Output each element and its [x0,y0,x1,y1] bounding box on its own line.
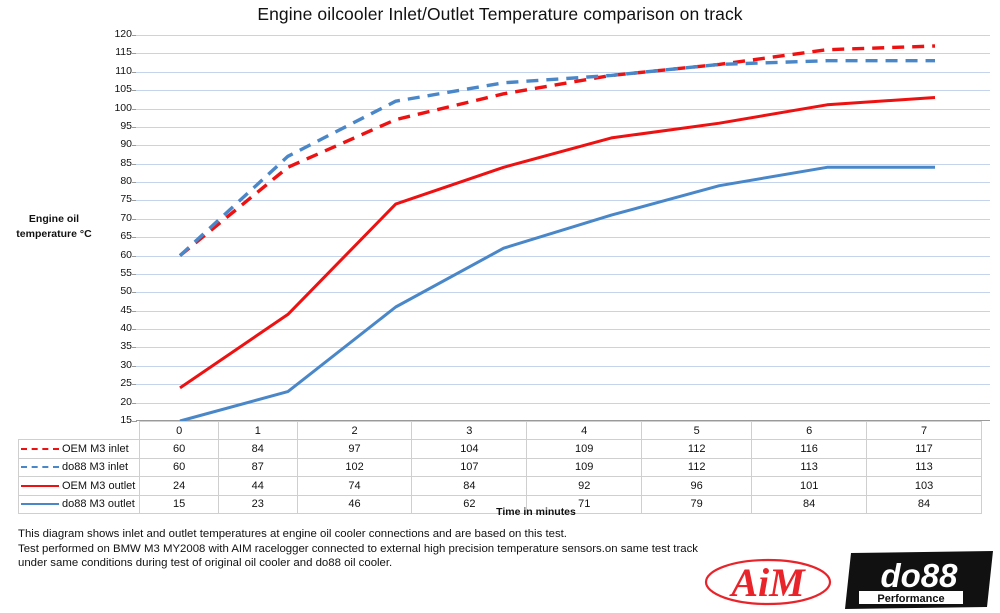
y-axis-tick-label: 70 [98,212,132,224]
table-cell: 96 [642,477,752,495]
data-table: 01234567 OEM M3 inlet6084971041091121161… [18,421,982,514]
y-axis-tick-mark [132,200,136,201]
legend-header-blank [19,422,140,440]
table-cell: 60 [140,458,219,476]
legend-label: do88 M3 outlet [62,498,135,510]
table-column-header: 3 [412,422,527,440]
y-axis-tick-mark [132,237,136,238]
y-axis-tick-mark [132,35,136,36]
y-axis-tick-mark [132,219,136,220]
table-column-header: 0 [140,422,219,440]
y-axis-title-line1: Engine oil [8,212,100,227]
y-axis-title: Engine oil temperature °C [8,212,100,242]
y-axis-tick-mark [132,127,136,128]
y-axis-tick-label: 100 [98,102,132,114]
table-cell: 84 [218,440,297,458]
legend-label: OEM M3 inlet [62,443,129,455]
table-cell: 107 [412,458,527,476]
plot-area [136,35,990,421]
y-axis-tick-label: 85 [98,157,132,169]
table-header: 01234567 [19,422,982,440]
y-axis-tick-labels: 1201151101051009590858075706560555045403… [94,0,132,613]
table-cell: 104 [412,440,527,458]
y-axis-tick-label: 120 [98,28,132,40]
table-column-header: 2 [297,422,412,440]
y-axis-tick-label: 115 [98,46,132,58]
table-cell: 113 [752,458,867,476]
y-axis-tick-mark [132,366,136,367]
y-axis-tick-mark [132,90,136,91]
y-axis-tick-label: 35 [98,340,132,352]
y-axis-tick-mark [132,145,136,146]
y-axis-tick-label: 65 [98,230,132,242]
series-line-oem-m3-outlet [180,98,935,388]
y-axis-tick-mark [132,347,136,348]
table-cell: 113 [867,458,982,476]
y-axis-tick-label: 110 [98,65,132,77]
table-cell: 101 [752,477,867,495]
table-header-row: 01234567 [19,422,982,440]
y-axis-tick-label: 40 [98,322,132,334]
table-body: OEM M3 inlet608497104109112116117do88 M3… [19,440,982,514]
y-axis-tick-mark [132,329,136,330]
table-cell: 87 [218,458,297,476]
y-axis-tick-label: 105 [98,83,132,95]
table-cell: 44 [218,477,297,495]
chart-page: Engine oilcooler Inlet/Outlet Temperatur… [0,0,1000,613]
do88-logo-subtext: Performance [877,593,944,605]
y-axis-tick-mark [132,421,136,422]
y-axis-tick-mark [132,53,136,54]
table-row: OEM M3 inlet608497104109112116117 [19,440,982,458]
caption-line-3: under same conditions during test of ori… [18,556,718,571]
table-column-header: 6 [752,422,867,440]
do88-logo-text: do88 [880,557,958,594]
y-axis-title-line2: temperature °C [8,227,100,242]
y-axis-tick-label: 20 [98,396,132,408]
legend-label: do88 M3 inlet [62,461,128,473]
y-axis-tick-label: 95 [98,120,132,132]
y-axis-tick-mark [132,72,136,73]
table-cell: 102 [297,458,412,476]
y-axis-tick-mark [132,384,136,385]
do88-logo: do88 Performance [845,551,993,609]
y-axis-tick-mark [132,274,136,275]
legend-entry[interactable]: OEM M3 outlet [19,477,140,495]
legend-swatch-icon [21,466,59,468]
table-cell: 60 [140,440,219,458]
caption-line-2: Test performed on BMW M3 MY2008 with AIM… [18,542,718,557]
x-axis-title: Time in minutes [136,506,936,518]
legend-entry[interactable]: do88 M3 outlet [19,495,140,513]
table-cell: 116 [752,440,867,458]
y-axis-tick-label: 30 [98,359,132,371]
page-title: Engine oilcooler Inlet/Outlet Temperatur… [0,4,1000,25]
y-axis-tick-label: 25 [98,377,132,389]
y-axis-tick-mark [132,311,136,312]
legend-swatch-icon [21,448,59,450]
aim-logo: AiM [703,556,833,608]
y-axis-tick-label: 90 [98,138,132,150]
table-column-header: 4 [527,422,642,440]
table-cell: 74 [297,477,412,495]
series-lines [136,35,990,421]
table-row: OEM M3 outlet244474849296101103 [19,477,982,495]
legend-label: OEM M3 outlet [62,480,135,492]
series-line-do88-m3-outlet [180,167,935,421]
table-column-header: 7 [867,422,982,440]
legend-entry[interactable]: OEM M3 inlet [19,440,140,458]
y-axis-tick-mark [132,403,136,404]
y-axis-tick-label: 80 [98,175,132,187]
table-cell: 109 [527,458,642,476]
table-row: do88 M3 inlet6087102107109112113113 [19,458,982,476]
y-axis-tick-mark [132,256,136,257]
y-axis-tick-mark [132,109,136,110]
caption: This diagram shows inlet and outlet temp… [18,527,718,571]
table-cell: 84 [412,477,527,495]
table-cell: 112 [642,440,752,458]
y-axis-tick-label: 60 [98,249,132,261]
series-line-do88-m3-inlet [180,61,935,256]
table-cell: 117 [867,440,982,458]
table-cell: 103 [867,477,982,495]
y-axis-tick-mark [132,292,136,293]
table-cell: 112 [642,458,752,476]
table-column-header: 5 [642,422,752,440]
y-axis-tick-label: 75 [98,193,132,205]
legend-swatch-icon [21,503,59,505]
legend-swatch-icon [21,485,59,487]
caption-line-1: This diagram shows inlet and outlet temp… [18,527,718,542]
legend-entry[interactable]: do88 M3 inlet [19,458,140,476]
table-cell: 92 [527,477,642,495]
table-cell: 109 [527,440,642,458]
y-axis-tick-label: 55 [98,267,132,279]
table-column-header: 1 [218,422,297,440]
y-axis-tick-label: 50 [98,285,132,297]
y-axis-tick-label: 45 [98,304,132,316]
table-cell: 24 [140,477,219,495]
table-cell: 97 [297,440,412,458]
aim-logo-text: AiM [728,560,806,605]
y-axis-tick-mark [132,182,136,183]
y-axis-tick-mark [132,164,136,165]
